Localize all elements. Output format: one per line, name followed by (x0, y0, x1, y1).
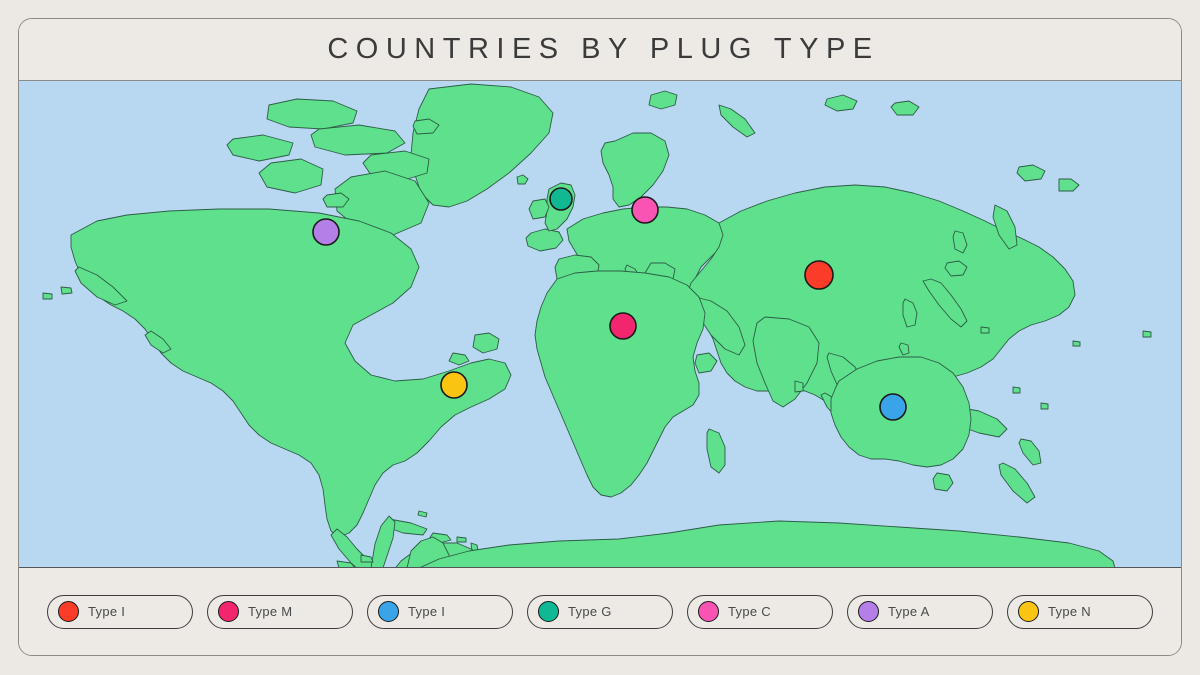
legend-label-6: Type N (1048, 604, 1091, 619)
legend-item-2[interactable]: Type I (367, 595, 513, 629)
legend-item-0[interactable]: Type I (47, 595, 193, 629)
legend-item-6[interactable]: Type N (1007, 595, 1153, 629)
marker-brazil[interactable] (441, 372, 467, 398)
card-header: COUNTRIES BY PLUG TYPE (19, 19, 1181, 81)
screenshot-root: COUNTRIES BY PLUG TYPE (0, 0, 1200, 675)
legend-swatch-icon-1 (218, 601, 239, 622)
legend-label-1: Type M (248, 604, 292, 619)
legend-label-5: Type A (888, 604, 930, 619)
legend-swatch-icon-2 (378, 601, 399, 622)
legend-swatch-icon-3 (538, 601, 559, 622)
legend-item-4[interactable]: Type C (687, 595, 833, 629)
marker-china[interactable] (805, 261, 833, 289)
legend-swatch-icon-5 (858, 601, 879, 622)
legend-item-3[interactable]: Type G (527, 595, 673, 629)
pacific-islet-b (1041, 403, 1048, 409)
legend-label-3: Type G (568, 604, 612, 619)
legend-swatch-icon-6 (1018, 601, 1039, 622)
legend-label-4: Type C (728, 604, 771, 619)
marker-europe[interactable] (632, 197, 658, 223)
marker-africa[interactable] (610, 313, 636, 339)
sri-lanka-islet (795, 381, 803, 392)
pacific-islet-c (981, 327, 989, 333)
map-card-frame: COUNTRIES BY PLUG TYPE (18, 18, 1182, 656)
aleutian-islet-b (43, 293, 52, 299)
legend-swatch-icon-0 (58, 601, 79, 622)
world-map-svg (19, 81, 1181, 568)
legend: Type I Type M Type I Type G Type C Type (19, 568, 1181, 655)
marker-australia[interactable] (880, 394, 906, 420)
legend-item-5[interactable]: Type A (847, 595, 993, 629)
pacific-islet-d (1073, 341, 1080, 346)
legend-label-0: Type I (88, 604, 125, 619)
world-map[interactable] (19, 81, 1181, 568)
legend-label-2: Type I (408, 604, 445, 619)
hawaii-islet (1143, 331, 1151, 337)
legend-swatch-icon-4 (698, 601, 719, 622)
page-title: COUNTRIES BY PLUG TYPE (320, 33, 879, 66)
aleutian-islet-a (61, 287, 72, 294)
marker-north-america[interactable] (313, 219, 339, 245)
puerto-rico (457, 537, 466, 542)
legend-item-1[interactable]: Type M (207, 595, 353, 629)
pacific-islet-a (1013, 387, 1020, 393)
marker-united-kingdom[interactable] (550, 188, 572, 210)
